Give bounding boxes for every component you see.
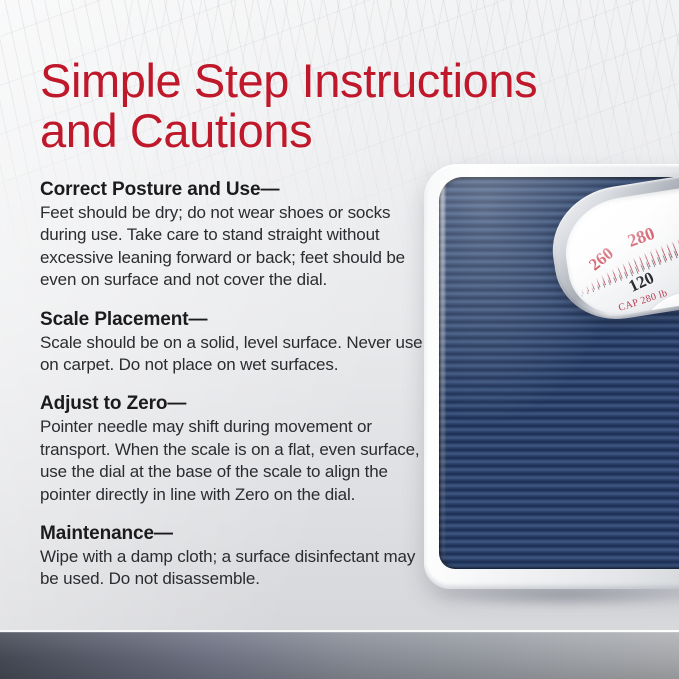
bathroom-scale-image: 260 280 120 CAP 280 lb GRA lb Kg SMARTHE… [424, 164, 679, 594]
section-maintenance: Maintenance— Wipe with a damp cloth; a s… [40, 522, 428, 591]
section-adjust-to-zero: Adjust to Zero— Pointer needle may shift… [40, 392, 428, 506]
section-body: Feet should be dry; do not wear shoes or… [40, 202, 428, 292]
instruction-panel: Simple Step Instructions and Cautions Co… [0, 0, 679, 679]
section-scale-placement: Scale Placement— Scale should be on a so… [40, 308, 428, 377]
instruction-sections: Correct Posture and Use— Feet should be … [40, 178, 428, 591]
page-title: Simple Step Instructions and Cautions [40, 56, 600, 156]
section-body: Pointer needle may shift during movement… [40, 416, 428, 506]
section-heading: Scale Placement— [40, 308, 428, 331]
dial-minor-ticks [577, 217, 679, 297]
dial-major-ticks [574, 205, 679, 294]
scale-dial-assembly: 260 280 120 CAP 280 lb GRA lb Kg SMARTHE… [553, 182, 679, 322]
section-correct-posture-and-use: Correct Posture and Use— Feet should be … [40, 178, 428, 292]
section-heading: Maintenance— [40, 522, 428, 545]
dial-number-120: 120 [626, 268, 658, 297]
section-heading: Correct Posture and Use— [40, 178, 428, 201]
section-body: Scale should be on a solid, level surfac… [40, 332, 428, 377]
scale-mat-highlight [440, 180, 445, 566]
dial-number-280: 280 [625, 223, 658, 252]
dial-number-260: 260 [585, 244, 617, 276]
dial-face: 260 280 120 CAP 280 lb GRA lb Kg SMARTHE… [558, 180, 679, 322]
section-heading: Adjust to Zero— [40, 392, 428, 415]
floor-surface-band [0, 632, 679, 679]
section-body: Wipe with a damp cloth; a surface disinf… [40, 546, 428, 591]
